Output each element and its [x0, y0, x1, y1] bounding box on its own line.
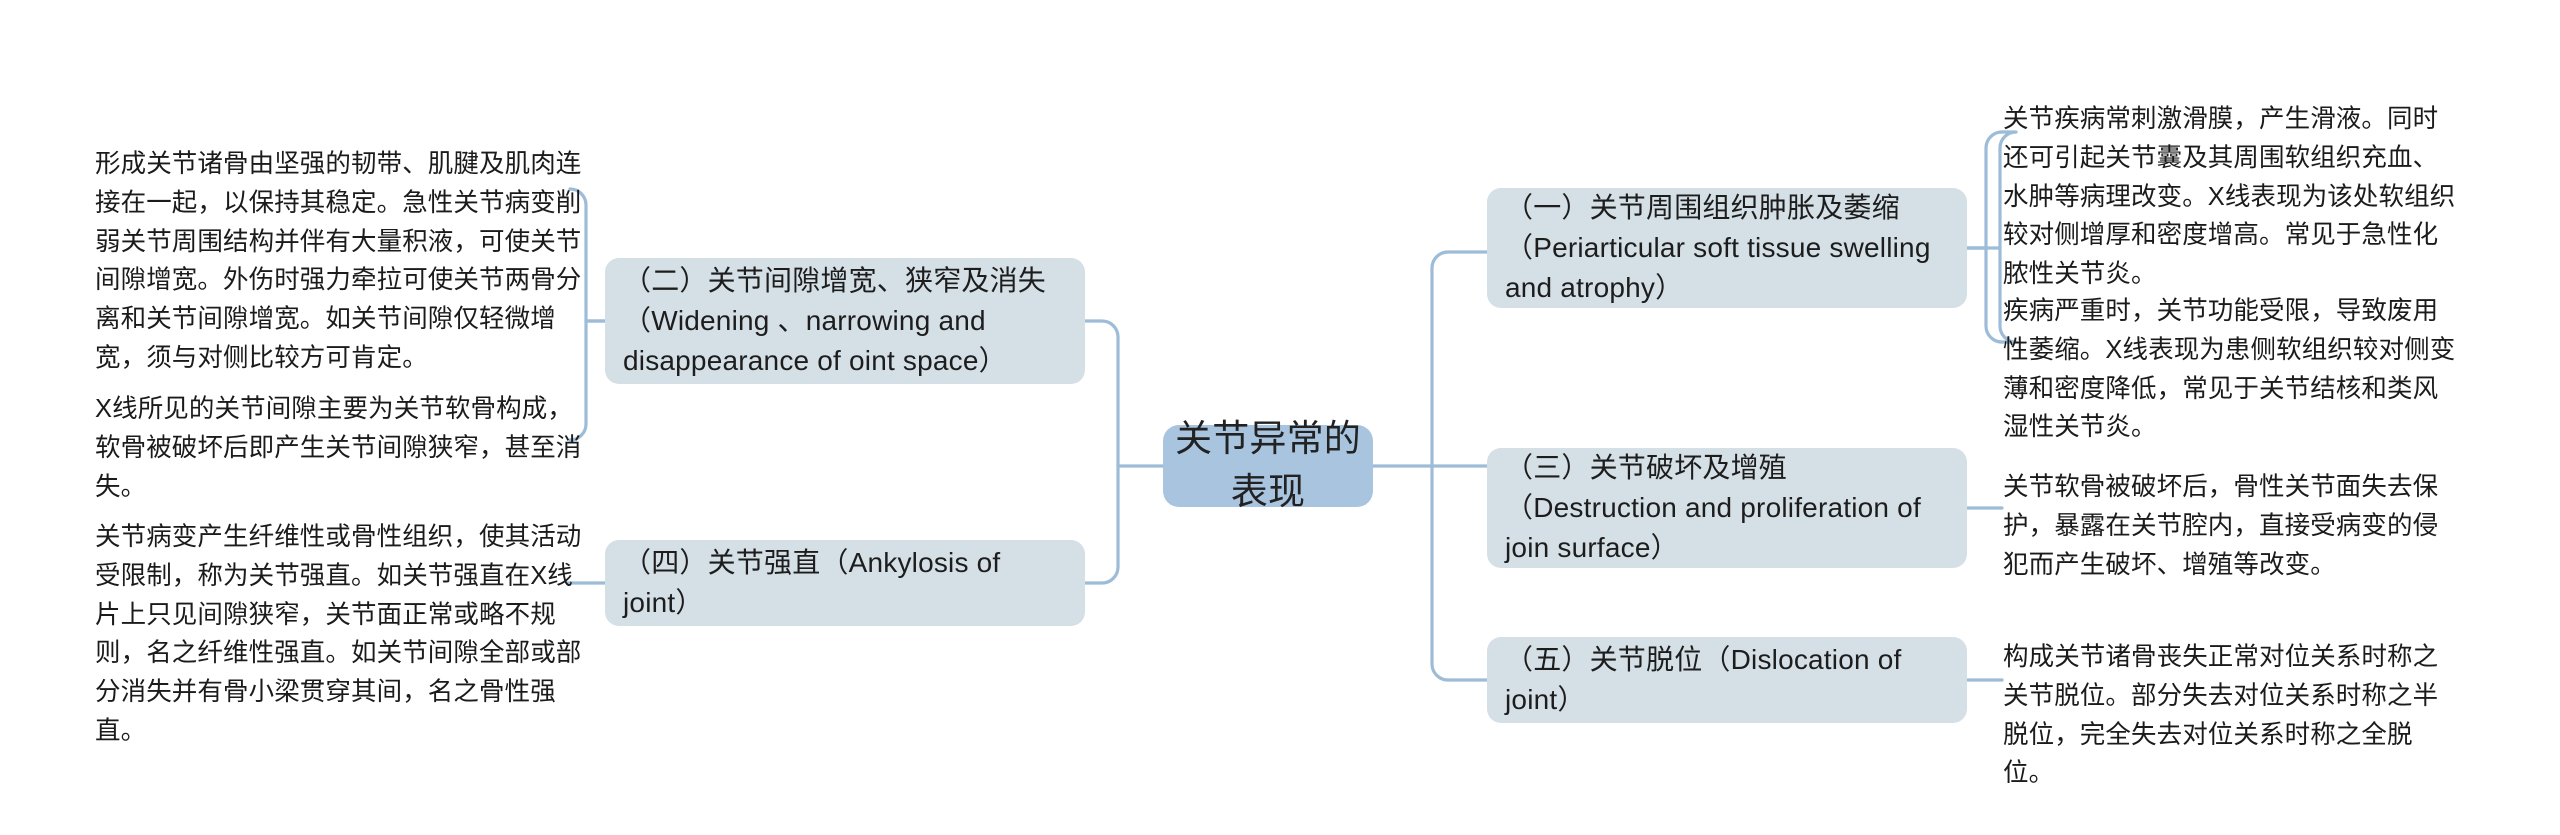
branch-node-2[interactable]: （二）关节间隙增宽、狭窄及消失（Widening 、narrowing and … — [605, 258, 1085, 384]
link-right-trunk — [1432, 252, 1487, 466]
leaf-text-branch5-child1[interactable]: 构成关节诸骨丧失正常对位关系时称之关节脱位。部分失去对位关系时称之半脱位，完全失… — [2003, 638, 2463, 793]
branch-node-3[interactable]: （三）关节破坏及增殖（Destruction and proliferation… — [1487, 448, 1967, 568]
leaf-text-branch2-child2[interactable]: X线所见的关节间隙主要为关节软骨构成，软骨被破坏后即产生关节间隙狭窄，甚至消失。 — [95, 390, 595, 506]
link-right-trunk-low — [1432, 466, 1487, 680]
leaf-text-branch4-child1[interactable]: 关节病变产生纤维性或骨性组织，使其活动受限制，称为关节强直。如关节强直在X线片上… — [95, 518, 595, 751]
leaf-text-branch2-child1[interactable]: 形成关节诸骨由坚强的韧带、肌腱及肌肉连接在一起，以保持其稳定。急性关节病变削弱关… — [95, 145, 595, 378]
mindmap-canvas: 关节异常的表现 （一）关节周围组织肿胀及萎缩（Periarticular sof… — [0, 0, 2560, 835]
link-b1-bracket-up — [1967, 132, 2002, 248]
leaf-text-branch1-child2[interactable]: 疾病严重时，关节功能受限，导致废用性萎缩。X线表现为患侧软组织较对侧变薄和密度降… — [2003, 292, 2463, 447]
link-left-trunk-low — [1085, 466, 1118, 583]
branch-node-1[interactable]: （一）关节周围组织肿胀及萎缩（Periarticular soft tissue… — [1487, 188, 1967, 308]
link-b1-bracket-down — [1967, 248, 2002, 342]
leaf-text-branch3-child1[interactable]: 关节软骨被破坏后，骨性关节面失去保护，暴露在关节腔内，直接受病变的侵犯而产生破坏… — [2003, 468, 2463, 584]
leaf-text-branch1-child1[interactable]: 关节疾病常刺激滑膜，产生滑液。同时还可引起关节囊及其周围软组织充血、水肿等病理改… — [2003, 100, 2463, 294]
branch-node-5[interactable]: （五）关节脱位（Dislocation of joint） — [1487, 637, 1967, 723]
link-left-trunk-up — [1085, 321, 1118, 466]
center-node[interactable]: 关节异常的表现 — [1163, 425, 1373, 507]
branch-node-4[interactable]: （四）关节强直（Ankylosis of joint） — [605, 540, 1085, 626]
